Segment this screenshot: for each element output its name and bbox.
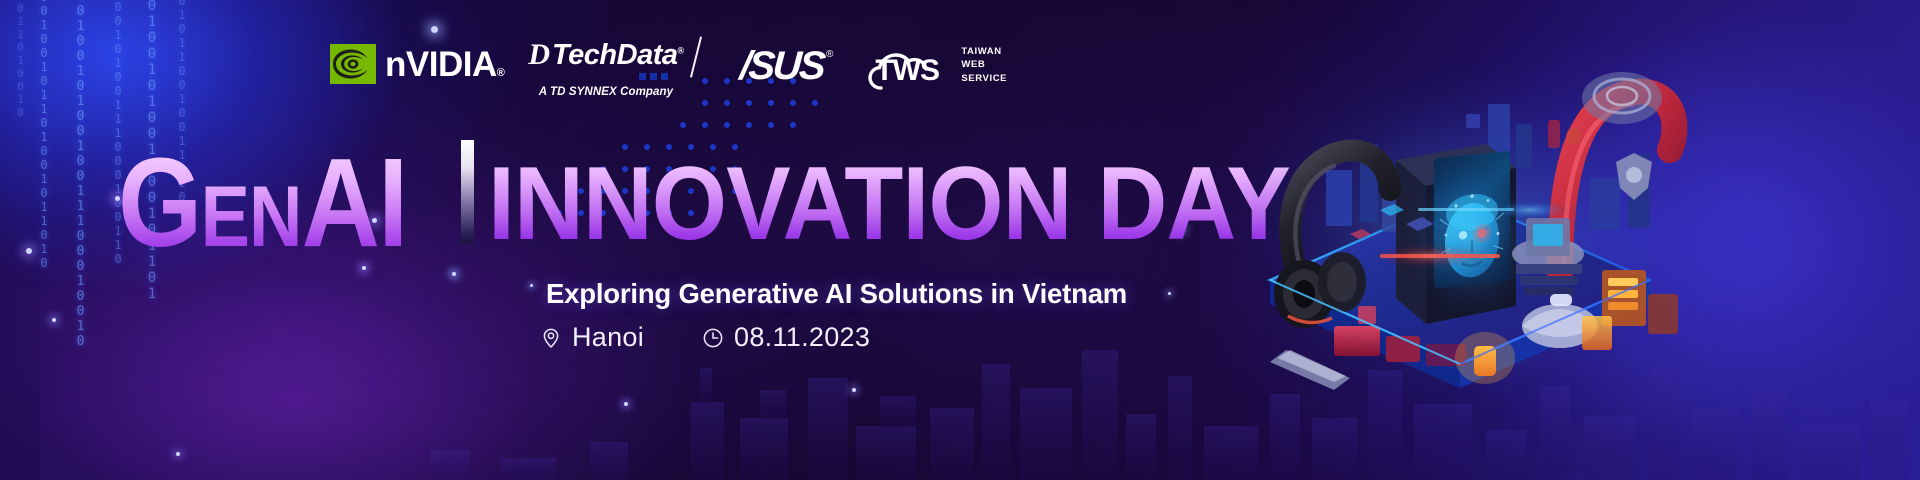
logo-asus[interactable]: /SUS ® — [740, 46, 834, 86]
techdata-wordmark: TechData® — [552, 41, 684, 70]
registered-mark: ® — [677, 45, 683, 55]
nvidia-wordmark: nVIDIA® — [385, 47, 504, 82]
event-subtitle: Exploring Generative AI Solutions in Vie… — [546, 278, 1127, 310]
tws-subline-3: SERVICE — [961, 72, 1007, 85]
location-pin-icon — [540, 327, 562, 349]
meta-date-label: 08.11.2023 — [734, 322, 870, 353]
event-title: GENAI INNOVATION DAY — [118, 140, 1351, 254]
tws-wordmark: TWS — [875, 56, 939, 86]
registered-mark: ® — [826, 49, 833, 60]
event-meta: Hanoi 08.11.2023 — [540, 322, 870, 353]
nvidia-eye-icon — [330, 44, 376, 84]
ai-technology-illustration — [1230, 58, 1700, 418]
sponsor-logo-strip: nVIDIA® D TechData® A TD SYNNEX Company … — [330, 36, 1007, 100]
event-banner: 00100101101001011010 1101001010010011100… — [0, 0, 1920, 480]
binary-column: 1001011010010 — [14, 0, 26, 119]
meta-date: 08.11.2023 — [702, 322, 870, 353]
title-genai: GENAI — [118, 151, 412, 254]
meta-location: Hanoi — [540, 322, 644, 353]
logo-nvidia[interactable]: nVIDIA® — [330, 44, 504, 84]
techdata-d-mark: D — [528, 40, 548, 70]
title-divider — [461, 140, 474, 244]
logo-tws[interactable]: TWS TAIWAN WEB SERVICE — [867, 44, 1007, 90]
title-innovation-day: INNOVATION DAY — [488, 161, 1290, 248]
meta-location-label: Hanoi — [572, 322, 644, 353]
binary-column: 1101001010010011100010010 — [74, 0, 86, 349]
binary-column: 00100101101001011010 — [38, 0, 50, 270]
techdata-squares-decoration — [528, 73, 667, 80]
techdata-slash-decoration — [690, 36, 702, 77]
logo-techdata[interactable]: D TechData® A TD SYNNEX Company — [528, 40, 683, 98]
techdata-tagline: A TD SYNNEX Company — [528, 86, 683, 98]
tws-sublines: TAIWAN WEB SERVICE — [961, 45, 1007, 85]
clock-icon — [702, 327, 724, 349]
tws-subline-1: TAIWAN — [961, 45, 1007, 58]
registered-mark: ® — [497, 67, 505, 79]
tws-subline-2: WEB — [961, 58, 1007, 71]
asus-wordmark: /SUS — [738, 46, 824, 86]
